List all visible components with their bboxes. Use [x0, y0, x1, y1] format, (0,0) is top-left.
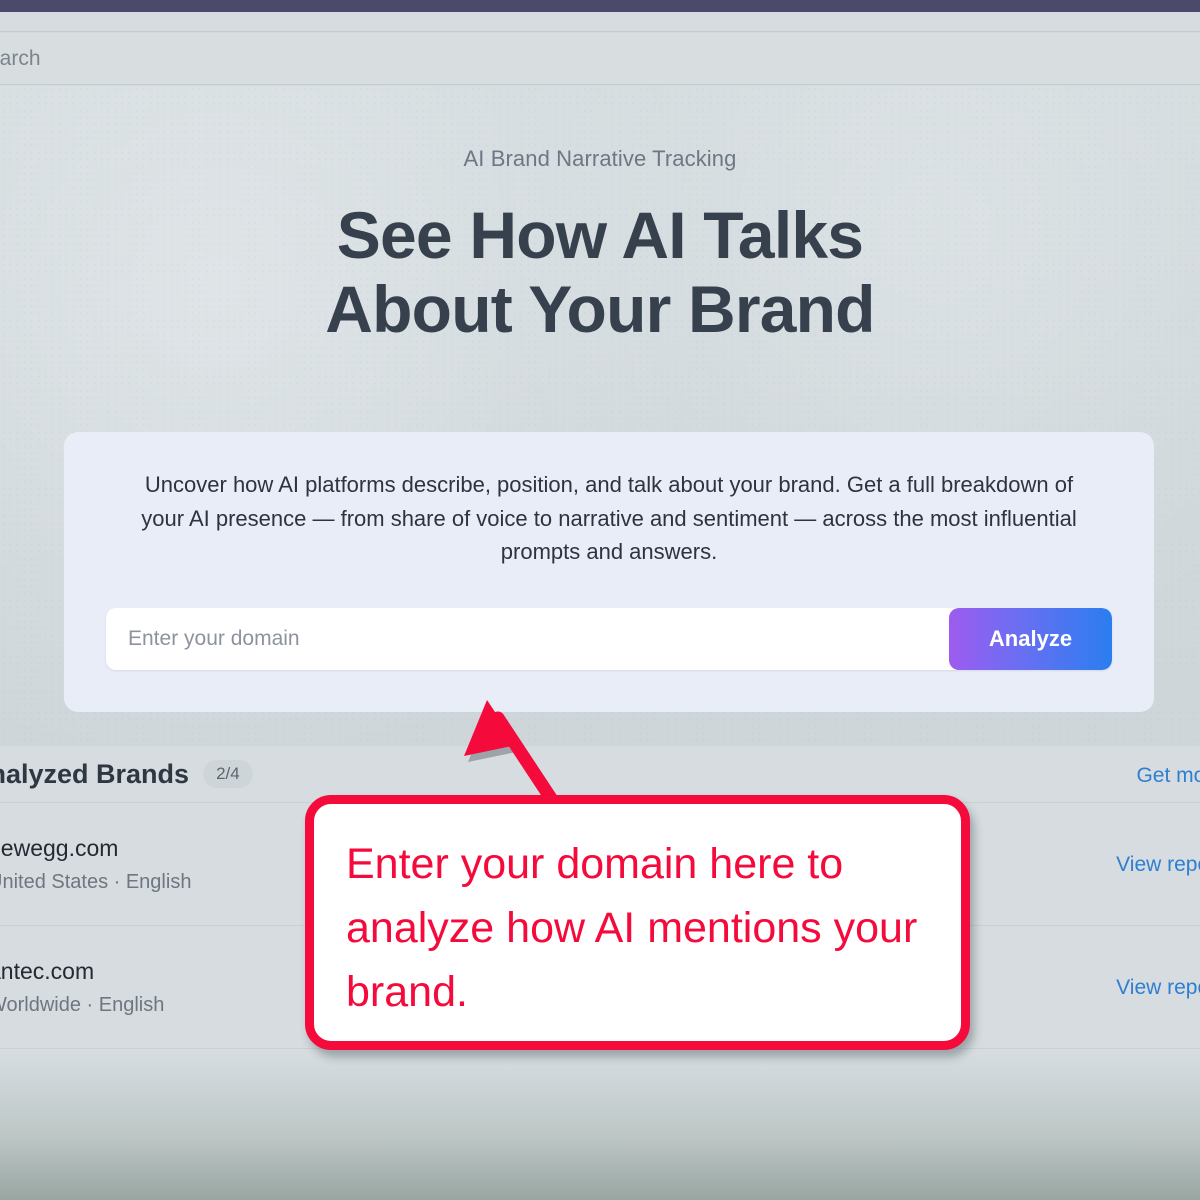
hero-eyebrow: AI Brand Narrative Tracking	[0, 146, 1200, 172]
page-bottom-gradient	[0, 1050, 1200, 1200]
brand-info: antec.com Worldwide · English	[0, 958, 164, 1017]
annotation-callout: Enter your domain here to analyze how AI…	[305, 795, 970, 1050]
analyzed-brands-title: Analyzed Brands	[0, 759, 189, 790]
search-bar[interactable]: Search	[0, 33, 1200, 85]
brand-meta: Worldwide · English	[0, 994, 164, 1017]
annotation-text: Enter your domain here to analyze how AI…	[346, 832, 929, 1024]
analyze-button[interactable]: Analyze	[949, 608, 1112, 670]
view-report-link[interactable]: View report	[1116, 976, 1200, 1000]
brand-meta: United States · English	[0, 871, 191, 894]
analyze-cta-card: Uncover how AI platforms describe, posit…	[64, 432, 1154, 712]
domain-input[interactable]	[106, 608, 949, 670]
headline-line-1: See How AI Talks	[0, 198, 1200, 272]
analyzed-brands-count-badge: 2/4	[203, 760, 253, 788]
browser-title-bar	[0, 0, 1200, 12]
domain-analyze-form: Analyze	[106, 608, 1112, 670]
app-window: Search AI Brand Narrative Tracking See H…	[0, 0, 1200, 1200]
view-report-link[interactable]: View report	[1116, 853, 1200, 877]
headline-line-2: About Your Brand	[0, 272, 1200, 346]
page-title: See How AI Talks About Your Brand	[0, 198, 1200, 346]
get-more-link[interactable]: Get more	[1136, 764, 1200, 788]
browser-chrome-strip	[0, 12, 1200, 32]
cta-description: Uncover how AI platforms describe, posit…	[64, 432, 1154, 569]
brand-domain: newegg.com	[0, 835, 191, 862]
brand-domain: antec.com	[0, 958, 164, 985]
brand-info: newegg.com United States · English	[0, 835, 191, 894]
search-input-placeholder[interactable]: Search	[0, 47, 41, 71]
